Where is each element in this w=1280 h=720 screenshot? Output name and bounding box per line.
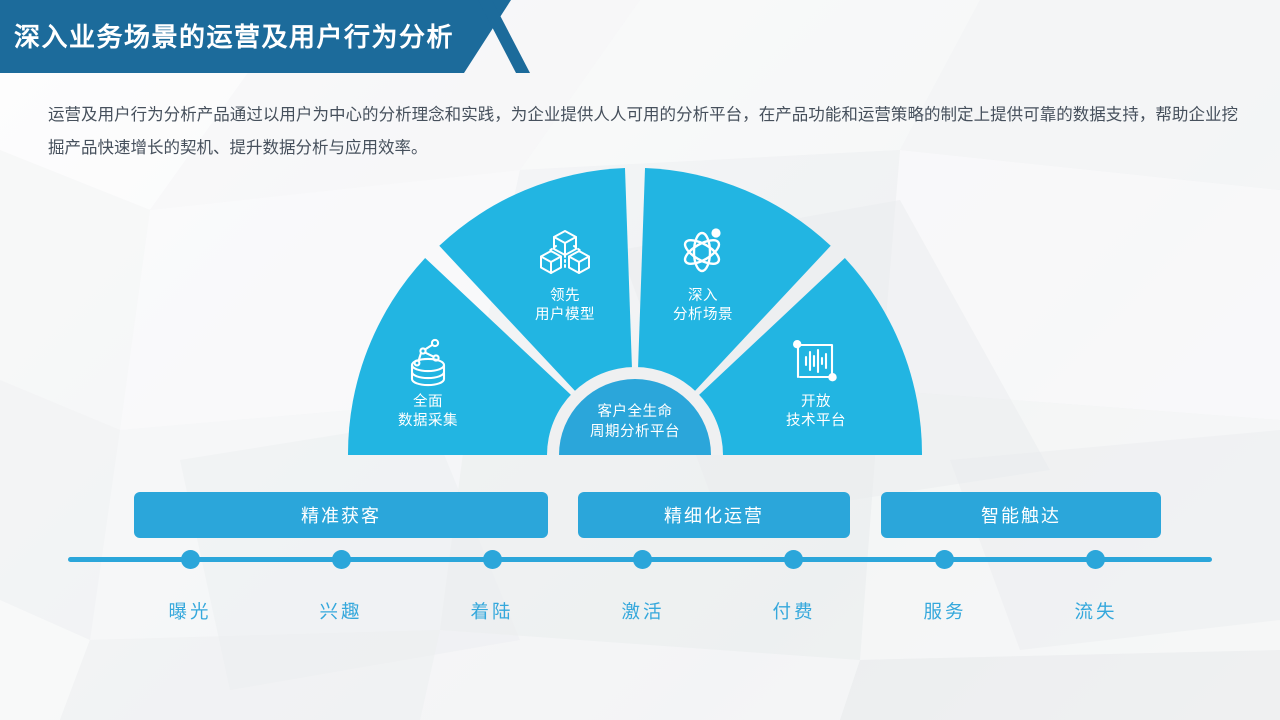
timeline-dot-3[interactable] — [483, 550, 502, 569]
timeline-label-4: 激活 — [621, 598, 664, 624]
fan-segment-3-line2: 分析场景 — [658, 306, 748, 325]
slide-canvas: 深入业务场景的运营及用户行为分析 运营及用户行为分析产品通过以用户为中心的分析理… — [0, 0, 1280, 720]
signal-frame-icon — [792, 339, 840, 385]
fan-segment-3-line1: 深入 — [658, 287, 748, 306]
fan-segment-4-line1: 开放 — [771, 393, 861, 412]
timeline-label-7: 流失 — [1074, 598, 1117, 624]
database-network-icon — [405, 338, 451, 386]
atom-icon — [678, 225, 728, 275]
timeline-label-2: 兴趣 — [319, 598, 362, 624]
timeline-dot-5[interactable] — [784, 550, 803, 569]
page-title: 深入业务场景的运营及用户行为分析 — [14, 17, 454, 54]
fan-segment-label-4: 开放 技术平台 — [771, 393, 861, 431]
timeline-label-5: 付费 — [772, 598, 815, 624]
timeline-label-6: 服务 — [923, 598, 966, 624]
timeline-dot-1[interactable] — [181, 550, 200, 569]
timeline-dot-6[interactable] — [935, 550, 954, 569]
timeline-dot-4[interactable] — [633, 550, 652, 569]
timeline-dot-2[interactable] — [332, 550, 351, 569]
fan-hub-label: 客户全生命 周期分析平台 — [580, 403, 690, 442]
phase-box-3[interactable]: 智能触达 — [881, 492, 1161, 538]
fan-segment-label-2: 领先 用户模型 — [520, 287, 610, 325]
phase-box-1[interactable]: 精准获客 — [134, 492, 548, 538]
fan-hub-line2: 周期分析平台 — [580, 423, 690, 443]
fan-segment-1-line2: 数据采集 — [383, 412, 473, 431]
fan-segment-label-3: 深入 分析场景 — [658, 287, 748, 325]
semicircle-diagram: 全面 数据采集 领先 用户模型 深入 分析场景 开放 技术平台 客户全生命 周期… — [340, 163, 940, 463]
fan-segment-2-line2: 用户模型 — [520, 306, 610, 325]
cubes-stack-icon — [540, 229, 590, 277]
timeline-dot-7[interactable] — [1086, 550, 1105, 569]
fan-segment-2-line1: 领先 — [520, 287, 610, 306]
body-paragraph: 运营及用户行为分析产品通过以用户为中心的分析理念和实践，为企业提供人人可用的分析… — [48, 98, 1238, 164]
phase-box-2[interactable]: 精细化运营 — [578, 492, 850, 538]
timeline-label-1: 曝光 — [168, 598, 211, 624]
fan-segment-1-line1: 全面 — [383, 393, 473, 412]
title-banner: 深入业务场景的运营及用户行为分析 — [0, 0, 520, 73]
fan-hub-line1: 客户全生命 — [580, 403, 690, 423]
fan-segment-label-1: 全面 数据采集 — [383, 393, 473, 431]
fan-segment-4-line2: 技术平台 — [771, 412, 861, 431]
timeline-label-3: 着陆 — [470, 598, 513, 624]
